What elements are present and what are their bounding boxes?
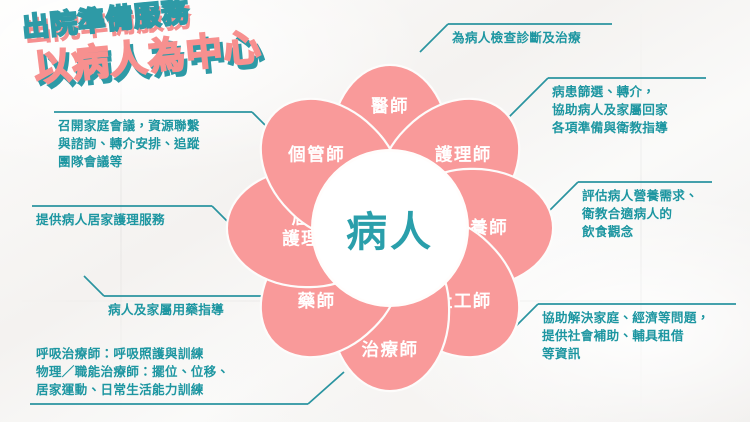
note-doctor: 為病人檢查診斷及治療	[452, 30, 581, 48]
note-nurse: 病患篩選、轉介， 協助病人及家屬回家 各項準備與衛教指導	[552, 84, 668, 138]
note-social-worker: 協助解決家庭、經濟等問題， 提供社會補助、輔具租借 等資訊	[542, 310, 710, 364]
center-label: 病人	[346, 198, 434, 258]
flower-diagram: 醫師 護理師 營養師 社工師 治療師 藥師 居家 護理師 個管師 病人	[200, 48, 580, 408]
center-circle-patient: 病人	[314, 152, 466, 304]
connector-pharm-d	[84, 276, 104, 296]
note-case-manager: 召開家庭會議，資源聯繫 與諮詢、轉介安排、追蹤 團隊會議等	[58, 118, 200, 172]
note-therapist: 呼吸治療師：呼吸照護與訓練 物理／職能治療師：擺位、位移、 居家運動、日常生活能…	[36, 346, 229, 400]
note-dietitian: 評估病人營養需求、 衛教合適病人的 飲食觀念	[582, 188, 698, 242]
infographic-canvas: 出院準備服務 出院準備服務 以病人為中心 以病人為中心	[0, 0, 750, 422]
note-home-nurse: 提供病人居家護理服務	[36, 212, 165, 230]
note-pharmacist: 病人及家屬用藥指導	[108, 302, 224, 320]
